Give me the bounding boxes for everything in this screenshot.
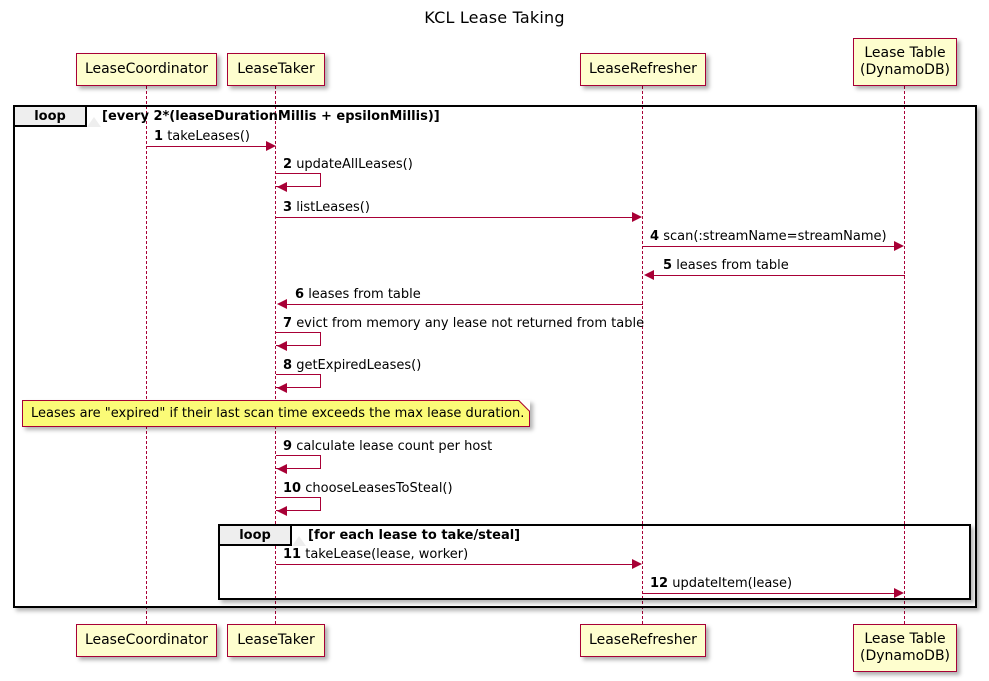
note-expired-note: Leases are "expired" if their last scan … <box>22 400 530 427</box>
participant-leasetable-top[interactable]: Lease Table (DynamoDB) <box>853 38 957 86</box>
message-11-line <box>276 564 633 565</box>
message-10-number: 10 <box>283 481 301 496</box>
message-3-arrowhead <box>632 212 642 222</box>
message-1-text: takeLeases() <box>167 129 250 144</box>
message-7-label: 7 evict from memory any lease not return… <box>283 316 644 331</box>
message-6-label: 6 leases from table <box>295 287 421 302</box>
message-3-line <box>276 217 633 218</box>
message-1-number: 1 <box>154 129 163 144</box>
message-2-text: updateAllLeases() <box>296 157 413 172</box>
participant-leaserefresher-label: LeaseRefresher <box>589 61 697 78</box>
participant-leasetable-label: Lease Table <box>864 45 945 62</box>
message-12-text: updateItem(lease) <box>672 576 792 591</box>
message-12-number: 12 <box>650 576 668 591</box>
participant-leasetable-sublabel: (DynamoDB) <box>860 62 950 79</box>
message-11-text: takeLease(lease, worker) <box>305 547 468 562</box>
message-9-arrowhead <box>277 464 287 474</box>
message-6-line <box>286 304 643 305</box>
participant-leasetable-bottom[interactable]: Lease Table (DynamoDB) <box>853 624 957 672</box>
message-4-arrowhead <box>894 241 904 251</box>
message-10-label: 10 chooseLeasesToSteal() <box>283 481 453 496</box>
message-6-arrowhead <box>277 299 287 309</box>
message-8-number: 8 <box>283 358 292 373</box>
message-3-number: 3 <box>283 200 292 215</box>
message-3-text: listLeases() <box>296 200 370 215</box>
message-4-text: scan(:streamName=streamName) <box>663 229 886 244</box>
message-12-label: 12 updateItem(lease) <box>650 576 792 591</box>
message-11-arrowhead <box>632 559 642 569</box>
message-10-text: chooseLeasesToSteal() <box>305 481 452 496</box>
participant-leasecoordinator-top[interactable]: LeaseCoordinator <box>76 53 217 86</box>
group-outer-loop-keyword: loop <box>34 109 66 124</box>
participant-leasetaker-label: LeaseTaker <box>237 61 314 78</box>
note-expired-note-text: Leases are "expired" if their last scan … <box>31 406 524 421</box>
group-outer-loop-condition: [every 2*(leaseDurationMillis + epsilonM… <box>102 109 440 124</box>
participant-leaserefresher-bottom[interactable]: LeaseRefresher <box>580 624 706 657</box>
participant-leasetable-label-bottom: Lease Table <box>864 631 945 648</box>
participant-leaserefresher-label-bottom: LeaseRefresher <box>589 632 697 649</box>
participant-leasecoordinator-label: LeaseCoordinator <box>85 61 208 78</box>
message-5-text: leases from table <box>676 258 789 273</box>
message-12-line <box>643 593 895 594</box>
participant-leaserefresher-top[interactable]: LeaseRefresher <box>580 53 706 86</box>
message-1-line <box>147 146 267 147</box>
message-7-number: 7 <box>283 316 292 331</box>
participant-leasetaker-bottom[interactable]: LeaseTaker <box>227 624 325 657</box>
group-inner-loop-tab: loop <box>220 526 292 546</box>
group-outer-loop-tab: loop <box>15 107 87 127</box>
group-inner-loop-notch <box>292 526 306 546</box>
message-5-number: 5 <box>663 258 672 273</box>
message-11-label: 11 takeLease(lease, worker) <box>283 547 468 562</box>
message-5-label: 5 leases from table <box>663 258 789 273</box>
message-4-line <box>643 246 895 247</box>
message-5-line <box>653 275 905 276</box>
participant-leasetable-sublabel-bottom: (DynamoDB) <box>860 648 950 665</box>
participant-leasecoordinator-bottom[interactable]: LeaseCoordinator <box>76 624 217 657</box>
message-8-arrowhead <box>277 383 287 393</box>
sequence-diagram: KCL Lease Taking loop [every 2*(leaseDur… <box>0 0 989 681</box>
group-inner-loop-condition: [for each lease to take/steal] <box>308 528 520 543</box>
message-7-arrowhead <box>277 341 287 351</box>
message-11-number: 11 <box>283 547 301 562</box>
participant-leasetaker-label-bottom: LeaseTaker <box>237 632 314 649</box>
message-1-arrowhead <box>266 141 276 151</box>
message-2-number: 2 <box>283 157 292 172</box>
message-1-label: 1 takeLeases() <box>154 129 250 144</box>
group-outer-loop-notch <box>87 107 101 127</box>
message-5-arrowhead <box>644 270 654 280</box>
message-4-label: 4 scan(:streamName=streamName) <box>650 229 887 244</box>
group-inner-loop-keyword: loop <box>239 528 271 543</box>
message-9-text: calculate lease count per host <box>296 439 492 454</box>
page-title: KCL Lease Taking <box>0 8 989 27</box>
participant-leasecoordinator-label-bottom: LeaseCoordinator <box>85 632 208 649</box>
message-3-label: 3 listLeases() <box>283 200 370 215</box>
message-8-label: 8 getExpiredLeases() <box>283 358 421 373</box>
message-6-text: leases from table <box>308 287 421 302</box>
message-8-text: getExpiredLeases() <box>296 358 421 373</box>
message-9-number: 9 <box>283 439 292 454</box>
message-6-number: 6 <box>295 287 304 302</box>
message-2-arrowhead <box>277 182 287 192</box>
participant-leasetaker-top[interactable]: LeaseTaker <box>227 53 325 86</box>
message-4-number: 4 <box>650 229 659 244</box>
message-2-label: 2 updateAllLeases() <box>283 157 413 172</box>
message-9-label: 9 calculate lease count per host <box>283 439 492 454</box>
message-10-arrowhead <box>277 506 287 516</box>
message-7-text: evict from memory any lease not returned… <box>296 316 644 331</box>
message-12-arrowhead <box>894 588 904 598</box>
